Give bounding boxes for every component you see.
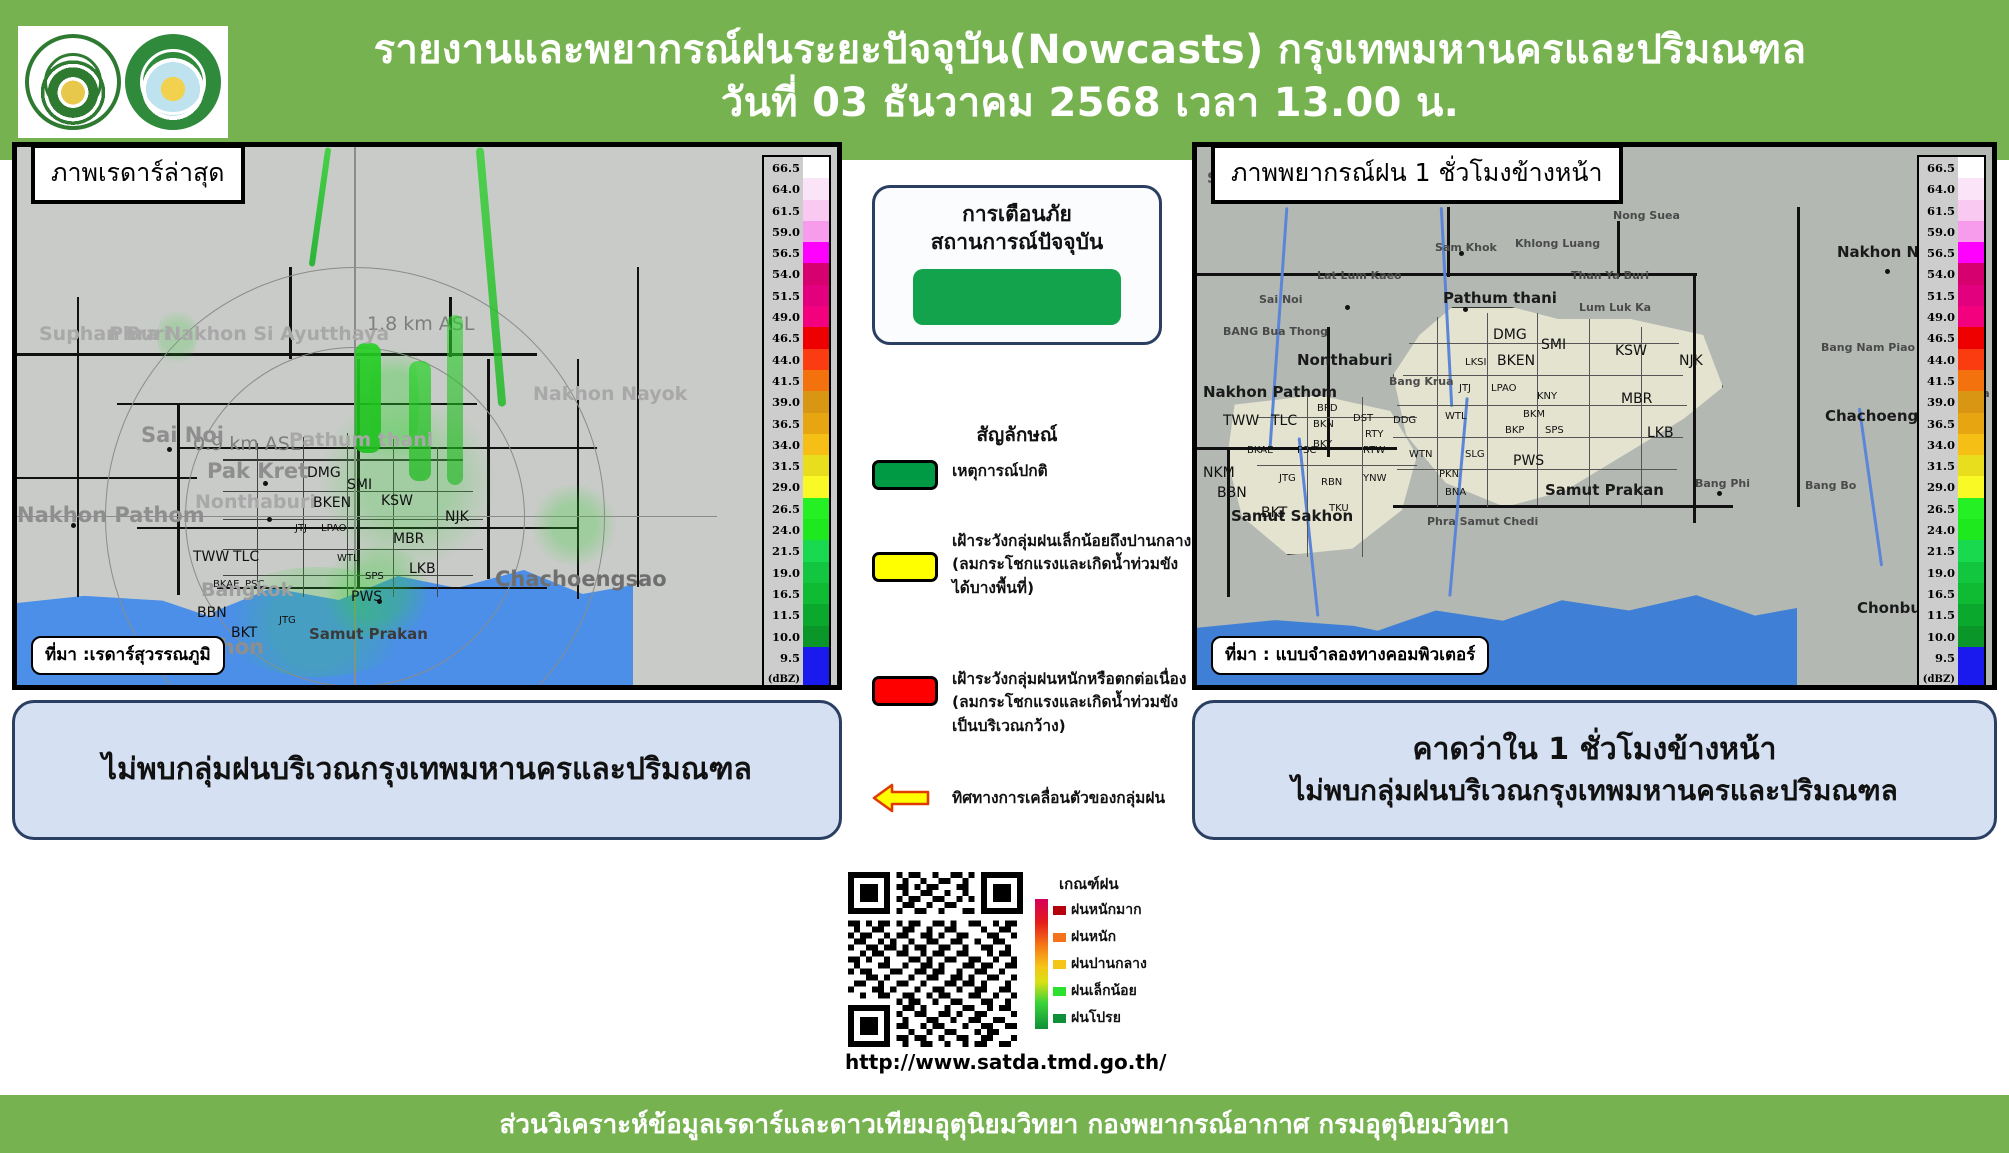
dbz-color-band (803, 349, 829, 370)
district-code-jtg: JTG (279, 615, 296, 626)
district-code-pkn: PKN (1439, 469, 1459, 480)
map-label-nong-suea: Nong Suea (1613, 209, 1680, 222)
forecast-panel-source: ที่มา : แบบจำลองทางคอมพิวเตอร์ (1211, 636, 1489, 675)
district-code-mbr: MBR (393, 531, 424, 547)
legend-swatch-red (872, 676, 938, 706)
dbz-color-scale-left: 66.5 64.0 61.5 59.0 56.5 54.0 51.5 49.0 … (762, 155, 831, 690)
map-label-lum-luk-ka: Lum Luk Ka (1579, 301, 1651, 314)
dbz-tick: 56.5 (768, 243, 800, 264)
forecast-summary-line2: ไม่พบกลุ่มฝนบริเวณกรุงเทพมหานครและปริมณฑ… (1291, 771, 1898, 810)
map-label-sai-noi: Sai Noi (1259, 293, 1302, 306)
dbz-tick: 41.5 (768, 371, 800, 392)
rain-criteria-item: ฝนหนักมาก (1053, 899, 1147, 921)
dbz-tick: 21.5 (768, 541, 800, 562)
footer-text: ส่วนวิเคราะห์ข้อมูลเรดาร์และดาวเทียมอุตุ… (500, 1104, 1510, 1145)
district-code-lpao: LPAO (321, 523, 347, 534)
rain-chip-heavy (1053, 933, 1066, 942)
district-code-ddg: DDG (1393, 415, 1416, 426)
rain-chip-moderate (1053, 960, 1066, 969)
dbz-color-band (803, 242, 829, 263)
dbz-color-band (1958, 178, 1984, 199)
legend-label-caution: เฝ้าระวังกลุ่มฝนเล็กน้อยถึงปานกลาง (ลมกร… (952, 530, 1191, 600)
map-label-pak-kret: Pak Kret (207, 459, 308, 483)
map-label-nakhon-pathom: Nakhon Pathom (17, 503, 205, 527)
map-label-nonthaburi: Nonthaburi (195, 491, 316, 513)
province-border (1393, 505, 1733, 508)
alert-status-indicator (913, 269, 1121, 325)
district-border (1589, 319, 1590, 505)
rain-criteria-item: ฝนโปรย (1053, 1007, 1147, 1029)
district-code-bken: BKEN (313, 495, 351, 511)
alert-card-title: การเตือนภัย (962, 200, 1072, 228)
dbz-tick: 51.5 (768, 286, 800, 307)
dbz-tick: 51.5 (1923, 286, 1955, 307)
district-code-wtl: WTL (1445, 411, 1467, 422)
dbz-unit-label: (dBZ) (1923, 669, 1955, 690)
district-code-smi: SMI (347, 477, 372, 493)
dbz-tick: 19.0 (768, 563, 800, 584)
dbz-tick: 21.5 (1923, 541, 1955, 562)
dbz-tick: 31.5 (1923, 456, 1955, 477)
dbz-tick: 34.0 (768, 435, 800, 456)
dbz-color-band (1958, 327, 1984, 348)
legend-label-severe: เฝ้าระวังกลุ่มฝนหนักหรือตกต่อเนื่อง (ลมก… (952, 668, 1186, 738)
dbz-color-band (1958, 604, 1984, 625)
dbz-color-bars (1958, 157, 1984, 690)
map-label-samut-prakan: Samut Prakan (309, 625, 428, 643)
dbz-color-band (803, 604, 829, 625)
city-dot (267, 517, 272, 522)
district-code-bkm: BKM (1523, 409, 1545, 420)
alert-card-subtitle: สถานการณ์ปัจจุบัน (931, 228, 1104, 256)
dbz-color-band (1958, 200, 1984, 221)
dbz-color-band (1958, 626, 1984, 647)
legend-row-severe: เฝ้าระวังกลุ่มฝนหนักหรือตกต่อเนื่อง (ลมก… (872, 668, 1186, 738)
dbz-color-band (1958, 306, 1984, 327)
dbz-color-band (803, 476, 829, 497)
map-label-bang-phi: Bang Phi (1695, 477, 1750, 490)
rain-label-drizzle: ฝนโปรย (1071, 1007, 1121, 1029)
dbz-color-band (803, 562, 829, 583)
dbz-tick: 36.5 (1923, 414, 1955, 435)
district-code-bbn: BBN (1217, 485, 1247, 501)
district-code-jtj: JTJ (1459, 383, 1471, 394)
map-label-nakhon-nayok: Nakhon Nayok (533, 383, 687, 405)
dbz-color-band (1958, 285, 1984, 306)
dbz-tick: 61.5 (1923, 201, 1955, 222)
map-label-phra-nakhon-si-ayutthaya: Phra Nakhon Si Ayutthaya (109, 323, 389, 345)
dbz-color-band (1958, 455, 1984, 476)
map-label-nonthaburi: Nonthaburi (1297, 351, 1392, 369)
dbz-tick: 24.0 (768, 520, 800, 541)
rain-chip-very-heavy (1053, 906, 1066, 915)
dbz-color-bars (803, 157, 829, 690)
dbz-color-band (1958, 476, 1984, 497)
district-code-bkp: BKP (1505, 425, 1524, 436)
dbz-tick: 10.0 (1923, 627, 1955, 648)
legend-swatch-yellow (872, 552, 938, 582)
map-label-bang-bua-thong: BANG Bua Thong (1223, 325, 1328, 338)
dbz-color-band (803, 391, 829, 412)
forecast-panel-caption: ภาพพยากรณ์ฝน 1 ชั่วโมงข้างหน้า (1211, 144, 1623, 204)
dbz-tick: 9.5 (768, 648, 800, 669)
dbz-color-band (803, 519, 829, 540)
rain-label-light: ฝนเล็กน้อย (1071, 980, 1137, 1002)
district-code-lpao: LPAO (1491, 383, 1517, 394)
district-code-jtg: JTG (1279, 473, 1296, 484)
logo-box (18, 26, 228, 138)
district-code-slg: SLG (1465, 449, 1485, 460)
district-code-tlc: TLC (233, 549, 259, 565)
nowcast-report-page: รายงานและพยากรณ์ฝนระยะปัจจุบัน(Nowcasts)… (0, 0, 2009, 1153)
page-footer: ส่วนวิเคราะห์ข้อมูลเรดาร์และดาวเทียมอุตุ… (0, 1095, 2009, 1153)
alert-status-card: การเตือนภัย สถานการณ์ปัจจุบัน (872, 185, 1162, 345)
district-code-lkb: LKB (409, 561, 436, 577)
dbz-color-band (1958, 647, 1984, 668)
map-label-sam-khok: Sam Khok (1435, 241, 1497, 254)
district-code-jtj: JTJ (295, 523, 307, 534)
map-label-krung-thep: Bangkok (201, 579, 293, 601)
map-label-samut-prakan: Samut Prakan (1545, 481, 1664, 499)
dbz-tick: 26.5 (1923, 499, 1955, 520)
dbz-color-band (1958, 583, 1984, 604)
rain-label-heavy: ฝนหนัก (1071, 926, 1116, 948)
radar-summary-box: ไม่พบกลุ่มฝนบริเวณกรุงเทพมหานครและปริมณฑ… (12, 700, 842, 840)
dbz-tick: 44.0 (1923, 350, 1955, 371)
dbz-tick: 11.5 (1923, 605, 1955, 626)
legend-row-normal: เหตุการณ์ปกติ (872, 460, 1048, 490)
rain-label-moderate: ฝนปานกลาง (1071, 953, 1147, 975)
dbz-tick: 59.0 (768, 222, 800, 243)
map-label-phra-samut-chedi: Phra Samut Chedi (1427, 515, 1538, 528)
map-label-bang-krua: Bang Krua (1389, 375, 1454, 388)
dbz-color-band (803, 434, 829, 455)
district-code-tww: TWW (193, 549, 229, 565)
district-code-bkt: BKT (231, 625, 257, 641)
map-label-pathum-thani: Pathum thani (289, 429, 433, 451)
dbz-color-band (803, 200, 829, 221)
dbz-color-band (803, 285, 829, 306)
dbz-color-band (1958, 519, 1984, 540)
dbz-tick: 29.0 (1923, 477, 1955, 498)
dbz-color-band (803, 647, 829, 668)
forecast-map-canvas: Suphan Buri Phra Nakhon Si Ayutthaya Nak… (1197, 147, 1992, 685)
rain-criteria-item: ฝนหนัก (1053, 926, 1147, 948)
dbz-color-band (1958, 562, 1984, 583)
rain-label-very-heavy: ฝนหนักมาก (1071, 899, 1142, 921)
rain-chip-drizzle (1053, 1014, 1066, 1023)
rain-criteria-title: เกณฑ์ฝน (1059, 872, 1185, 896)
dbz-tick: 49.0 (1923, 307, 1955, 328)
dbz-color-band (1958, 668, 1984, 689)
rain-criteria-item: ฝนปานกลาง (1053, 953, 1147, 975)
district-code-lksi: LKSI (1465, 357, 1486, 368)
dbz-color-band (1958, 391, 1984, 412)
district-code-bken: BKEN (1497, 353, 1535, 369)
dbz-color-band (803, 327, 829, 348)
dbz-color-band (1958, 242, 1984, 263)
district-code-tww: TWW (1223, 413, 1259, 429)
dbz-color-band (1958, 349, 1984, 370)
dbz-color-band (1958, 370, 1984, 391)
qr-code[interactable] (848, 872, 1023, 1047)
city-dot (1459, 251, 1464, 256)
dbz-color-band (803, 263, 829, 284)
dbz-tick: 19.0 (1923, 563, 1955, 584)
district-code-mbr: MBR (1621, 391, 1652, 407)
city-dot (1885, 269, 1890, 274)
dbz-tick: 34.0 (1923, 435, 1955, 456)
district-code-dmg: DMG (1493, 327, 1527, 343)
district-code-ksw: KSW (1615, 343, 1647, 359)
map-label-khlong-luang: Khlong Luang (1515, 237, 1600, 250)
district-code-rbn: RBN (1321, 477, 1342, 488)
thai-meteorological-department-emblem-icon (125, 34, 221, 130)
legend-row-caution: เฝ้าระวังกลุ่มฝนเล็กน้อยถึงปานกลาง (ลมกร… (872, 530, 1191, 600)
dbz-tick: 61.5 (768, 201, 800, 222)
city-dot (1463, 307, 1468, 312)
dbz-color-band (803, 498, 829, 519)
dbz-tick: 49.0 (768, 307, 800, 328)
map-label-pathum-thani: Pathum thani (1443, 289, 1557, 307)
district-code-kny: KNY (1537, 391, 1557, 402)
district-border (1437, 317, 1438, 507)
rain-criteria-body: ฝนหนักมาก ฝนหนัก ฝนปานกลาง ฝนเล็กน้อย ฝน… (1035, 899, 1185, 1029)
province-border (637, 267, 639, 587)
rain-chip-light (1053, 987, 1066, 996)
dbz-tick: 29.0 (768, 477, 800, 498)
city-dot (1345, 305, 1350, 310)
dbz-color-band (1958, 221, 1984, 242)
district-code-sps: SPS (365, 571, 384, 582)
district-code-rtw: RTW (1363, 445, 1385, 456)
dbz-unit-label: (dBZ) (768, 669, 800, 690)
rain-criteria-item: ฝนเล็กน้อย (1053, 980, 1147, 1002)
dbz-tick: 64.0 (1923, 179, 1955, 200)
district-code-ksw: KSW (381, 493, 413, 509)
rain-criteria-items: ฝนหนักมาก ฝนหนัก ฝนปานกลาง ฝนเล็กน้อย ฝน… (1053, 899, 1147, 1029)
district-code-pws: PWS (351, 589, 382, 605)
district-code-tlc: TLC (1271, 413, 1297, 429)
district-code-sps: SPS (1545, 425, 1564, 436)
dbz-color-band (803, 626, 829, 647)
dbz-color-band (803, 221, 829, 242)
map-label-chachoengsao: Chachoengsao (495, 567, 667, 591)
dbz-color-band (1958, 540, 1984, 561)
dbz-color-band (803, 370, 829, 391)
map-label-bang-nam-piao: Bang Nam Piao (1821, 341, 1915, 354)
dbz-tick: 26.5 (768, 499, 800, 520)
city-dot (167, 447, 172, 452)
radar-panel-caption: ภาพเรดาร์ล่าสุด (31, 144, 245, 204)
district-code-bna: BNA (1445, 487, 1466, 498)
dbz-tick: 11.5 (768, 605, 800, 626)
district-code-bkn: BKN (1313, 419, 1334, 430)
radar-echo (529, 485, 619, 565)
district-code-ynw: YNW (1363, 473, 1386, 484)
dbz-color-band (1958, 263, 1984, 284)
dbz-color-band (1958, 434, 1984, 455)
dbz-tick: 46.5 (768, 328, 800, 349)
royal-irrigation-emblem-icon (25, 34, 121, 130)
dbz-tick: 24.0 (1923, 520, 1955, 541)
dbz-tick: 16.5 (1923, 584, 1955, 605)
city-dot (1717, 491, 1722, 496)
dbz-tick: 46.5 (1923, 328, 1955, 349)
dbz-color-band (803, 413, 829, 434)
map-label-sai-noi: Sai Noi (141, 423, 224, 447)
map-label-lat-lum-kaeo: Lat Lum Kaeo (1317, 269, 1402, 282)
dbz-color-band (803, 157, 829, 178)
dbz-tick: 66.5 (768, 158, 800, 179)
city-dot (71, 523, 76, 528)
dbz-tick: 54.0 (1923, 264, 1955, 285)
radar-panel-source: ที่มา :เรดาร์สุวรรณภูมิ (31, 636, 225, 675)
district-code-bky: BKY (1313, 439, 1332, 450)
page-datetime: วันที่ 03 ธันวาคม 2568 เวลา 13.00 น. (240, 77, 1940, 130)
district-code-bbn: BBN (197, 605, 227, 621)
district-border (1487, 313, 1488, 507)
district-code-lkb: LKB (1647, 425, 1674, 441)
district-border (1257, 465, 1417, 466)
dbz-tick-labels: 66.5 64.0 61.5 59.0 56.5 54.0 51.5 49.0 … (1919, 157, 1958, 690)
district-code-bpd: BPD (1317, 403, 1338, 414)
map-label-nakhon-pathom: Nakhon Pathom (1203, 383, 1337, 401)
district-code-wtl: WTL (337, 553, 359, 564)
website-url[interactable]: http://www.satda.tmd.go.th/ (845, 1050, 1175, 1074)
dbz-color-band (803, 540, 829, 561)
legend-label-direction: ทิศทางการเคลื่อนตัวของกลุ่มฝน (952, 787, 1165, 810)
dbz-tick: 56.5 (1923, 243, 1955, 264)
map-label-than-ya-buri: Than Ya Buri (1571, 269, 1649, 282)
rain-criteria-scale: เกณฑ์ฝน ฝนหนักมาก ฝนหนัก ฝนปานกลาง (1035, 872, 1185, 1029)
forecast-map-panel[interactable]: Suphan Buri Phra Nakhon Si Ayutthaya Nak… (1192, 142, 1997, 690)
district-code-nkm: NKM (1203, 465, 1235, 481)
district-code-njk: NJK (445, 509, 469, 525)
district-code-tku: TKU (1329, 503, 1349, 514)
dbz-color-band (803, 668, 829, 689)
bang-pakong-river (1858, 408, 1883, 567)
city-dot (263, 481, 268, 486)
header-titles: รายงานและพยากรณ์ฝนระยะปัจจุบัน(Nowcasts)… (240, 24, 1940, 130)
radar-map-canvas: 1.8 km ASL 0.9 km ASL Suphan Buri Phra N… (17, 147, 837, 685)
radar-summary-text: ไม่พบกลุ่มฝนบริเวณกรุงเทพมหานครและปริมณฑ… (102, 749, 752, 791)
dbz-tick: 64.0 (768, 179, 800, 200)
page-title: รายงานและพยากรณ์ฝนระยะปัจจุบัน(Nowcasts)… (240, 24, 1940, 77)
district-code-rty: RTY (1365, 429, 1383, 440)
dbz-tick: 9.5 (1923, 648, 1955, 669)
radar-map-panel[interactable]: 1.8 km ASL 0.9 km ASL Suphan Buri Phra N… (12, 142, 842, 690)
rain-criteria-gradient-bar (1035, 899, 1048, 1029)
district-code-bkt: BKT (1261, 505, 1287, 521)
district-code-pws: PWS (1513, 453, 1544, 469)
legend-label-normal: เหตุการณ์ปกติ (952, 460, 1048, 483)
district-code-dmg: DMG (307, 465, 341, 481)
dbz-color-band (803, 455, 829, 476)
dbz-color-band (803, 583, 829, 604)
dbz-color-band (1958, 157, 1984, 178)
dbz-tick: 66.5 (1923, 158, 1955, 179)
dbz-tick: 36.5 (768, 414, 800, 435)
district-code-dst: DST (1353, 413, 1373, 424)
map-label-bang-bo: Bang Bo (1805, 479, 1856, 492)
district-border (1307, 397, 1308, 557)
dbz-tick: 54.0 (768, 264, 800, 285)
page-header: รายงานและพยากรณ์ฝนระยะปัจจุบัน(Nowcasts)… (0, 0, 2009, 160)
forecast-summary-line1: คาดว่าใน 1 ชั่วโมงข้างหน้า (1413, 729, 1777, 771)
dbz-tick-labels: 66.5 64.0 61.5 59.0 56.5 54.0 51.5 49.0 … (764, 157, 803, 690)
forecast-summary-box: คาดว่าใน 1 ชั่วโมงข้างหน้า ไม่พบกลุ่มฝนบ… (1192, 700, 1997, 840)
dbz-tick: 39.0 (768, 392, 800, 413)
legend-swatch-green (872, 460, 938, 490)
dbz-color-band (803, 178, 829, 199)
dbz-tick: 44.0 (768, 350, 800, 371)
district-code-smi: SMI (1541, 337, 1566, 353)
dbz-tick: 59.0 (1923, 222, 1955, 243)
dbz-tick: 31.5 (768, 456, 800, 477)
district-code-bkae: BKAE (1247, 445, 1273, 456)
dbz-color-scale-right: 66.5 64.0 61.5 59.0 56.5 54.0 51.5 49.0 … (1917, 155, 1986, 690)
direction-arrow-icon (872, 782, 938, 814)
district-code-wtn: WTN (1409, 449, 1432, 460)
dbz-color-band (803, 306, 829, 327)
dbz-tick: 16.5 (768, 584, 800, 605)
dbz-tick: 41.5 (1923, 371, 1955, 392)
dbz-color-band (1958, 413, 1984, 434)
legend-row-direction: ทิศทางการเคลื่อนตัวของกลุ่มฝน (872, 782, 1165, 814)
province-border (1797, 207, 1800, 507)
dbz-tick: 39.0 (1923, 392, 1955, 413)
dbz-color-band (1958, 498, 1984, 519)
district-code-njk: NJK (1679, 353, 1703, 369)
dbz-tick: 10.0 (768, 627, 800, 648)
legend-title: สัญลักษณ์ (872, 420, 1162, 450)
radar-echo (309, 147, 332, 267)
